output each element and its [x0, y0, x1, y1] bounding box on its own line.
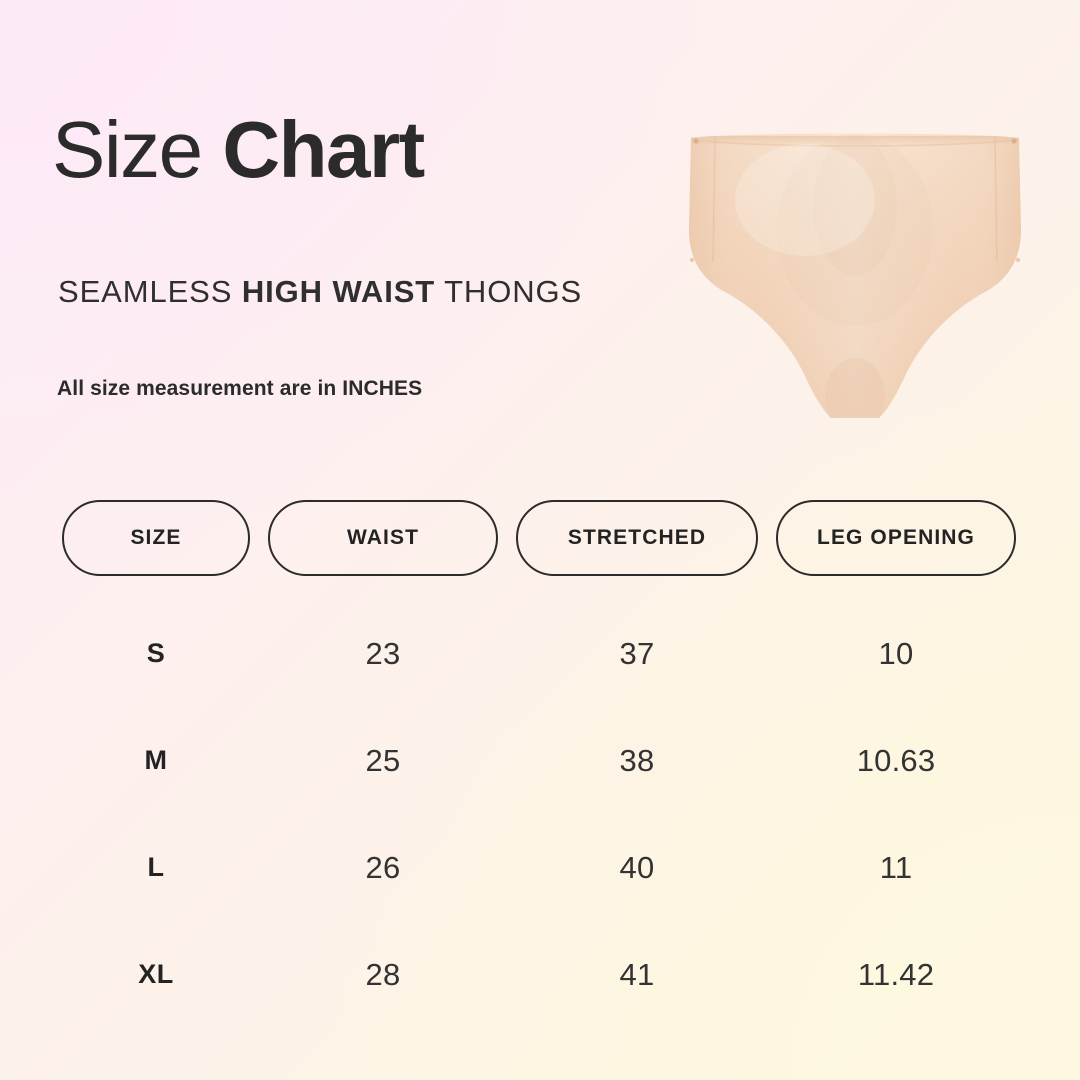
leg-opening-value: 10	[879, 636, 914, 672]
size-value: XL	[138, 959, 174, 990]
stretched-value: 40	[620, 850, 655, 886]
cell-waist: 26	[268, 814, 498, 921]
size-chart-canvas: Size Chart SEAMLESS HIGH WAIST THONGS Al…	[0, 0, 1080, 1080]
waist-value: 25	[366, 743, 401, 779]
cell-stretched: 37	[516, 600, 758, 707]
cell-size: M	[62, 707, 250, 814]
table-body: S 23 37 10 M 25 3	[62, 600, 1018, 1028]
table-header-row: SIZE WAIST STRETCHED LEG OPENING	[62, 500, 1018, 576]
cell-stretched: 41	[516, 921, 758, 1028]
size-value: S	[147, 638, 166, 669]
column-header-waist: WAIST	[268, 500, 498, 576]
stretched-value: 38	[620, 743, 655, 779]
column-header-leg-opening: LEG OPENING	[776, 500, 1016, 576]
leg-opening-value: 11	[880, 850, 913, 886]
stretched-value: 41	[620, 957, 655, 993]
cell-leg-opening: 11	[776, 814, 1016, 921]
waist-value: 28	[366, 957, 401, 993]
column-header-stretched: STRETCHED	[516, 500, 758, 576]
cell-size: XL	[62, 921, 250, 1028]
leg-opening-value: 11.42	[858, 957, 934, 993]
cell-leg-opening: 11.42	[776, 921, 1016, 1028]
table-row: XL 28 41 11.42	[62, 921, 1018, 1028]
cell-waist: 28	[268, 921, 498, 1028]
column-header-waist-label: WAIST	[347, 526, 419, 550]
cell-waist: 23	[268, 600, 498, 707]
cell-stretched: 40	[516, 814, 758, 921]
column-header-size: SIZE	[62, 500, 250, 576]
cell-waist: 25	[268, 707, 498, 814]
leg-opening-value: 10.63	[857, 743, 936, 779]
column-header-size-label: SIZE	[130, 526, 181, 550]
column-header-stretched-label: STRETCHED	[568, 526, 706, 550]
size-value: M	[145, 745, 168, 776]
waist-value: 26	[366, 850, 401, 886]
cell-size: S	[62, 600, 250, 707]
waist-value: 23	[366, 636, 401, 672]
cell-leg-opening: 10.63	[776, 707, 1016, 814]
stretched-value: 37	[620, 636, 655, 672]
cell-stretched: 38	[516, 707, 758, 814]
column-header-leg-opening-label: LEG OPENING	[817, 526, 975, 550]
cell-size: L	[62, 814, 250, 921]
cell-leg-opening: 10	[776, 600, 1016, 707]
size-table: SIZE WAIST STRETCHED LEG OPENING S 23	[0, 0, 1080, 1080]
size-value: L	[148, 852, 165, 883]
table-row: M 25 38 10.63	[62, 707, 1018, 814]
table-row: L 26 40 11	[62, 814, 1018, 921]
table-row: S 23 37 10	[62, 600, 1018, 707]
